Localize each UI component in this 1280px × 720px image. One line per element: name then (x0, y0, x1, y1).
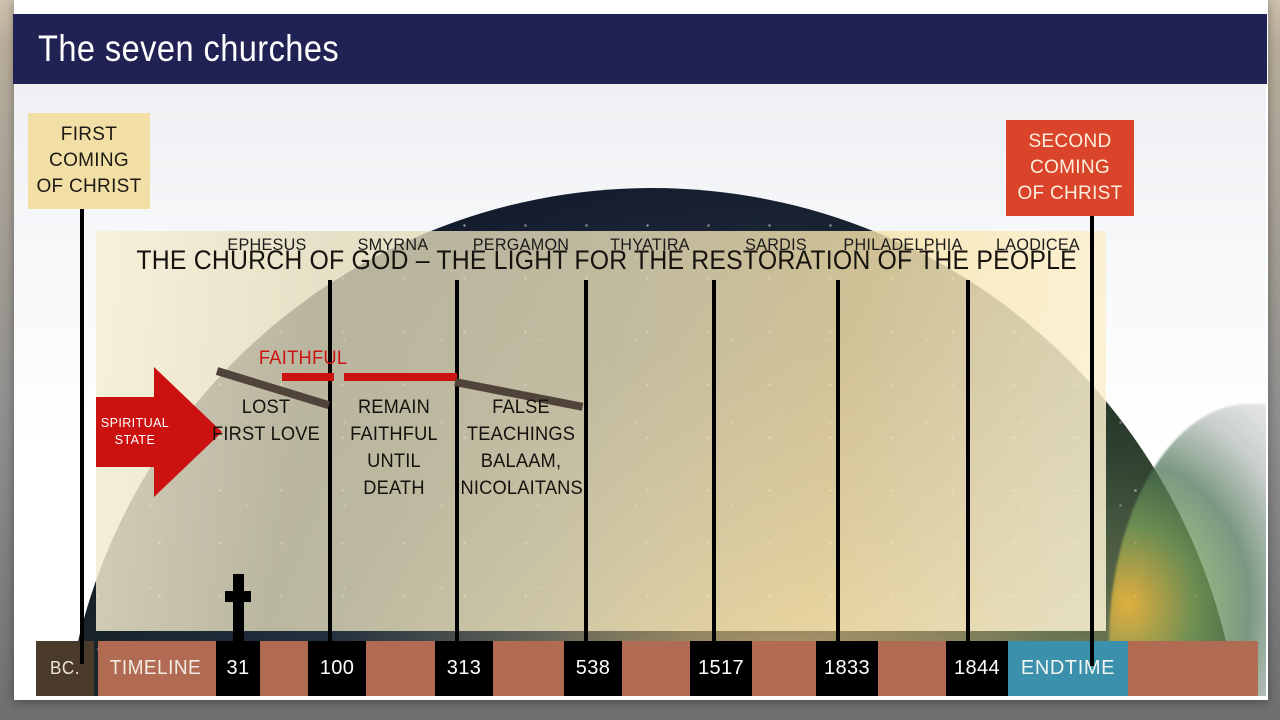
column-divider-6 (966, 280, 970, 660)
second-coming-marker: SECOND COMING OF CHRIST (1006, 120, 1134, 216)
church-label-thyatira: THYATIRA (591, 235, 709, 255)
description-line: UNTIL DEATH (334, 448, 453, 502)
column-divider-3 (584, 280, 588, 660)
first-coming-stem (80, 209, 84, 664)
church-label-ephesus: EPHESUS (209, 235, 325, 255)
second-coming-line1: SECOND (1006, 129, 1134, 155)
description-smyrna: REMAIN FAITHFUL UNTIL DEATH (334, 394, 453, 502)
spiritual-state-arrow: SPIRITUAL STATE (96, 367, 221, 497)
arrow-label-line1: SPIRITUAL (100, 415, 170, 432)
description-ephesus: LOST FIRST LOVE (206, 394, 325, 448)
description-line: TEACHINGS (461, 421, 582, 448)
description-line: NICOLAITANS (461, 475, 582, 502)
timeline-date-313: 313 (435, 641, 493, 696)
page-title: The seven churches (38, 28, 339, 70)
timeline-date-1517: 1517 (690, 641, 752, 696)
timeline-date-1833: 1833 (816, 641, 878, 696)
column-divider-4 (712, 280, 716, 660)
first-coming-line1: FIRST (28, 122, 150, 148)
description-line: LOST (206, 394, 325, 421)
second-coming-line2: COMING (1006, 155, 1134, 181)
timeline-endtime-block: ENDTIME (1008, 641, 1128, 696)
faithful-label: FAITHFUL (259, 348, 347, 370)
timeline-bc-label: BC. (37, 641, 92, 696)
description-line: FALSE (461, 394, 582, 421)
faithful-line-dash (282, 373, 334, 381)
arrow-label-line2: STATE (100, 432, 170, 449)
faithful-line-solid (344, 373, 457, 381)
description-line: BALAAM, (461, 448, 582, 475)
church-label-smyrna: SMYRNA (335, 235, 451, 255)
first-coming-line3: OF CHRIST (28, 174, 150, 200)
column-divider-5 (836, 280, 840, 660)
column-divider-2 (455, 280, 459, 660)
second-coming-stem (1090, 216, 1094, 666)
church-label-sardis: SARDIS (719, 235, 833, 255)
church-label-philadelphia: PHILADELPHIA (843, 235, 963, 255)
timeline-date-538: 538 (564, 641, 622, 696)
description-line: REMAIN (334, 394, 453, 421)
cross-icon (225, 574, 251, 644)
timeline-bar: BC. TIMELINE 31 100 313 538 1517 1833 18… (36, 641, 1258, 696)
description-line: FIRST LOVE (206, 421, 325, 448)
slide-title-bar: The seven churches (13, 14, 1267, 84)
description-line: FAITHFUL (334, 421, 453, 448)
description-pergamon: FALSE TEACHINGS BALAAM, NICOLAITANS (461, 394, 582, 502)
timeline-date-1844: 1844 (946, 641, 1008, 696)
first-coming-line2: COMING (28, 148, 150, 174)
church-label-pergamon: PERGAMON (462, 235, 580, 255)
church-label-laodicea: LAODICEA (973, 235, 1102, 255)
second-coming-line3: OF CHRIST (1006, 181, 1134, 207)
arrow-label: SPIRITUAL STATE (100, 415, 170, 449)
timeline-date-31: 31 (216, 641, 260, 696)
first-coming-marker: FIRST COMING OF CHRIST (28, 113, 150, 209)
timeline-date-100: 100 (308, 641, 366, 696)
column-divider-1 (328, 280, 332, 660)
